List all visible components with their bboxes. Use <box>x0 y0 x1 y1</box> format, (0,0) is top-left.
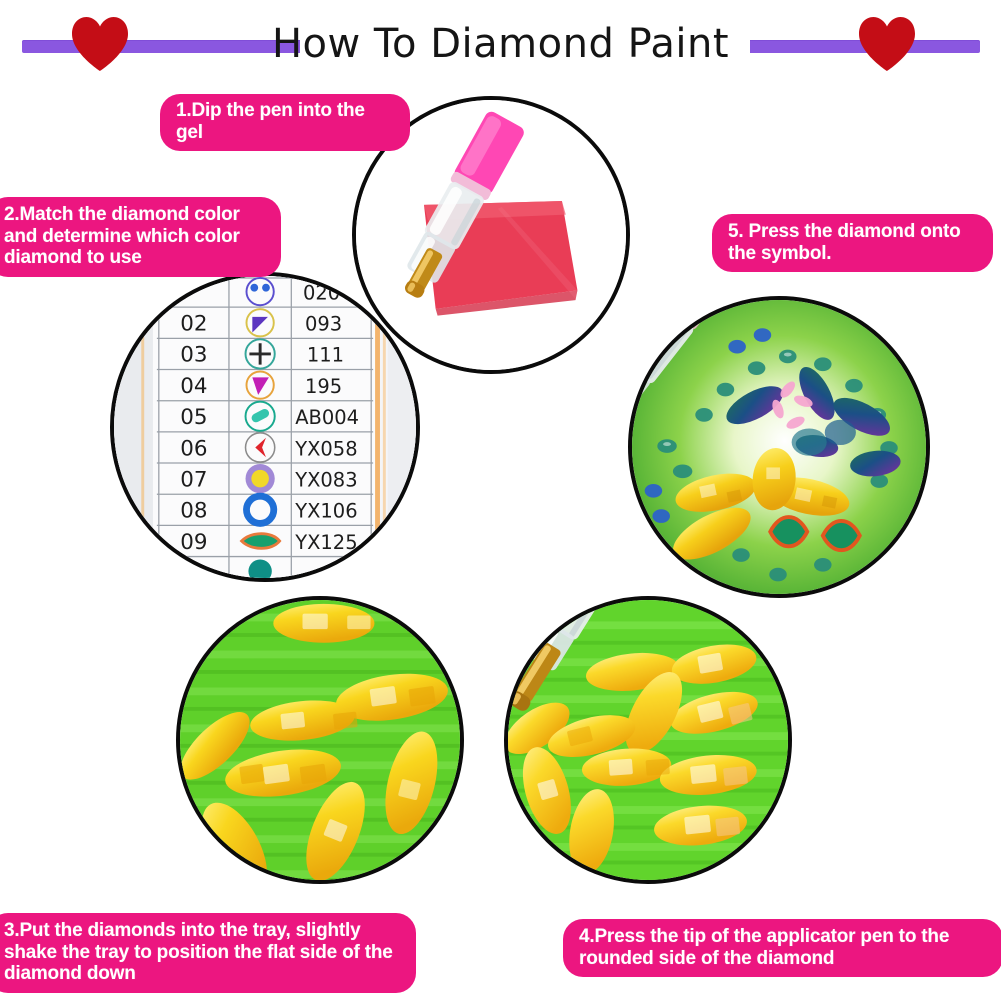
svg-text:08: 08 <box>180 499 207 524</box>
color-chart-illustration: 02 03 04 05 06 07 08 09 020 093 111 195 … <box>114 276 416 578</box>
svg-text:YX058: YX058 <box>294 437 357 460</box>
infographic-root: How To Diamond Paint 1.Dip the pen into … <box>0 0 1001 1001</box>
svg-text:111: 111 <box>307 344 344 367</box>
step-2-label: 2.Match the diamond color and determine … <box>0 197 281 277</box>
svg-text:YX106: YX106 <box>294 500 357 523</box>
step-3-photo <box>176 596 464 884</box>
pen-pressing-diamond-illustration <box>508 600 788 880</box>
step-2-photo: 02 03 04 05 06 07 08 09 020 093 111 195 … <box>110 272 420 582</box>
placing-diamond-on-canvas-illustration <box>632 300 926 594</box>
step-5-photo <box>628 296 930 598</box>
step-3-label: 3.Put the diamonds into the tray, slight… <box>0 913 416 993</box>
step-4-label: 4.Press the tip of the applicator pen to… <box>563 919 1001 977</box>
svg-text:AB004: AB004 <box>295 406 359 429</box>
page-title: How To Diamond Paint <box>0 21 1001 67</box>
svg-text:YX125: YX125 <box>294 531 357 554</box>
svg-text:093: 093 <box>305 313 342 336</box>
svg-text:04: 04 <box>180 374 207 399</box>
step-5-label: 5. Press the diamond onto the symbol. <box>712 214 993 272</box>
svg-text:YX083: YX083 <box>294 468 357 491</box>
svg-text:020: 020 <box>303 281 340 304</box>
svg-text:03: 03 <box>180 343 207 368</box>
svg-text:05: 05 <box>180 405 207 430</box>
step-1-label: 1.Dip the pen into the gel <box>160 94 410 151</box>
svg-text:195: 195 <box>305 375 342 398</box>
header: How To Diamond Paint <box>0 0 1001 85</box>
svg-text:07: 07 <box>180 467 207 492</box>
svg-text:02: 02 <box>180 312 207 337</box>
step-4-photo <box>504 596 792 884</box>
svg-text:09: 09 <box>180 530 207 555</box>
svg-text:06: 06 <box>180 436 207 461</box>
diamonds-in-tray-illustration <box>180 600 460 880</box>
